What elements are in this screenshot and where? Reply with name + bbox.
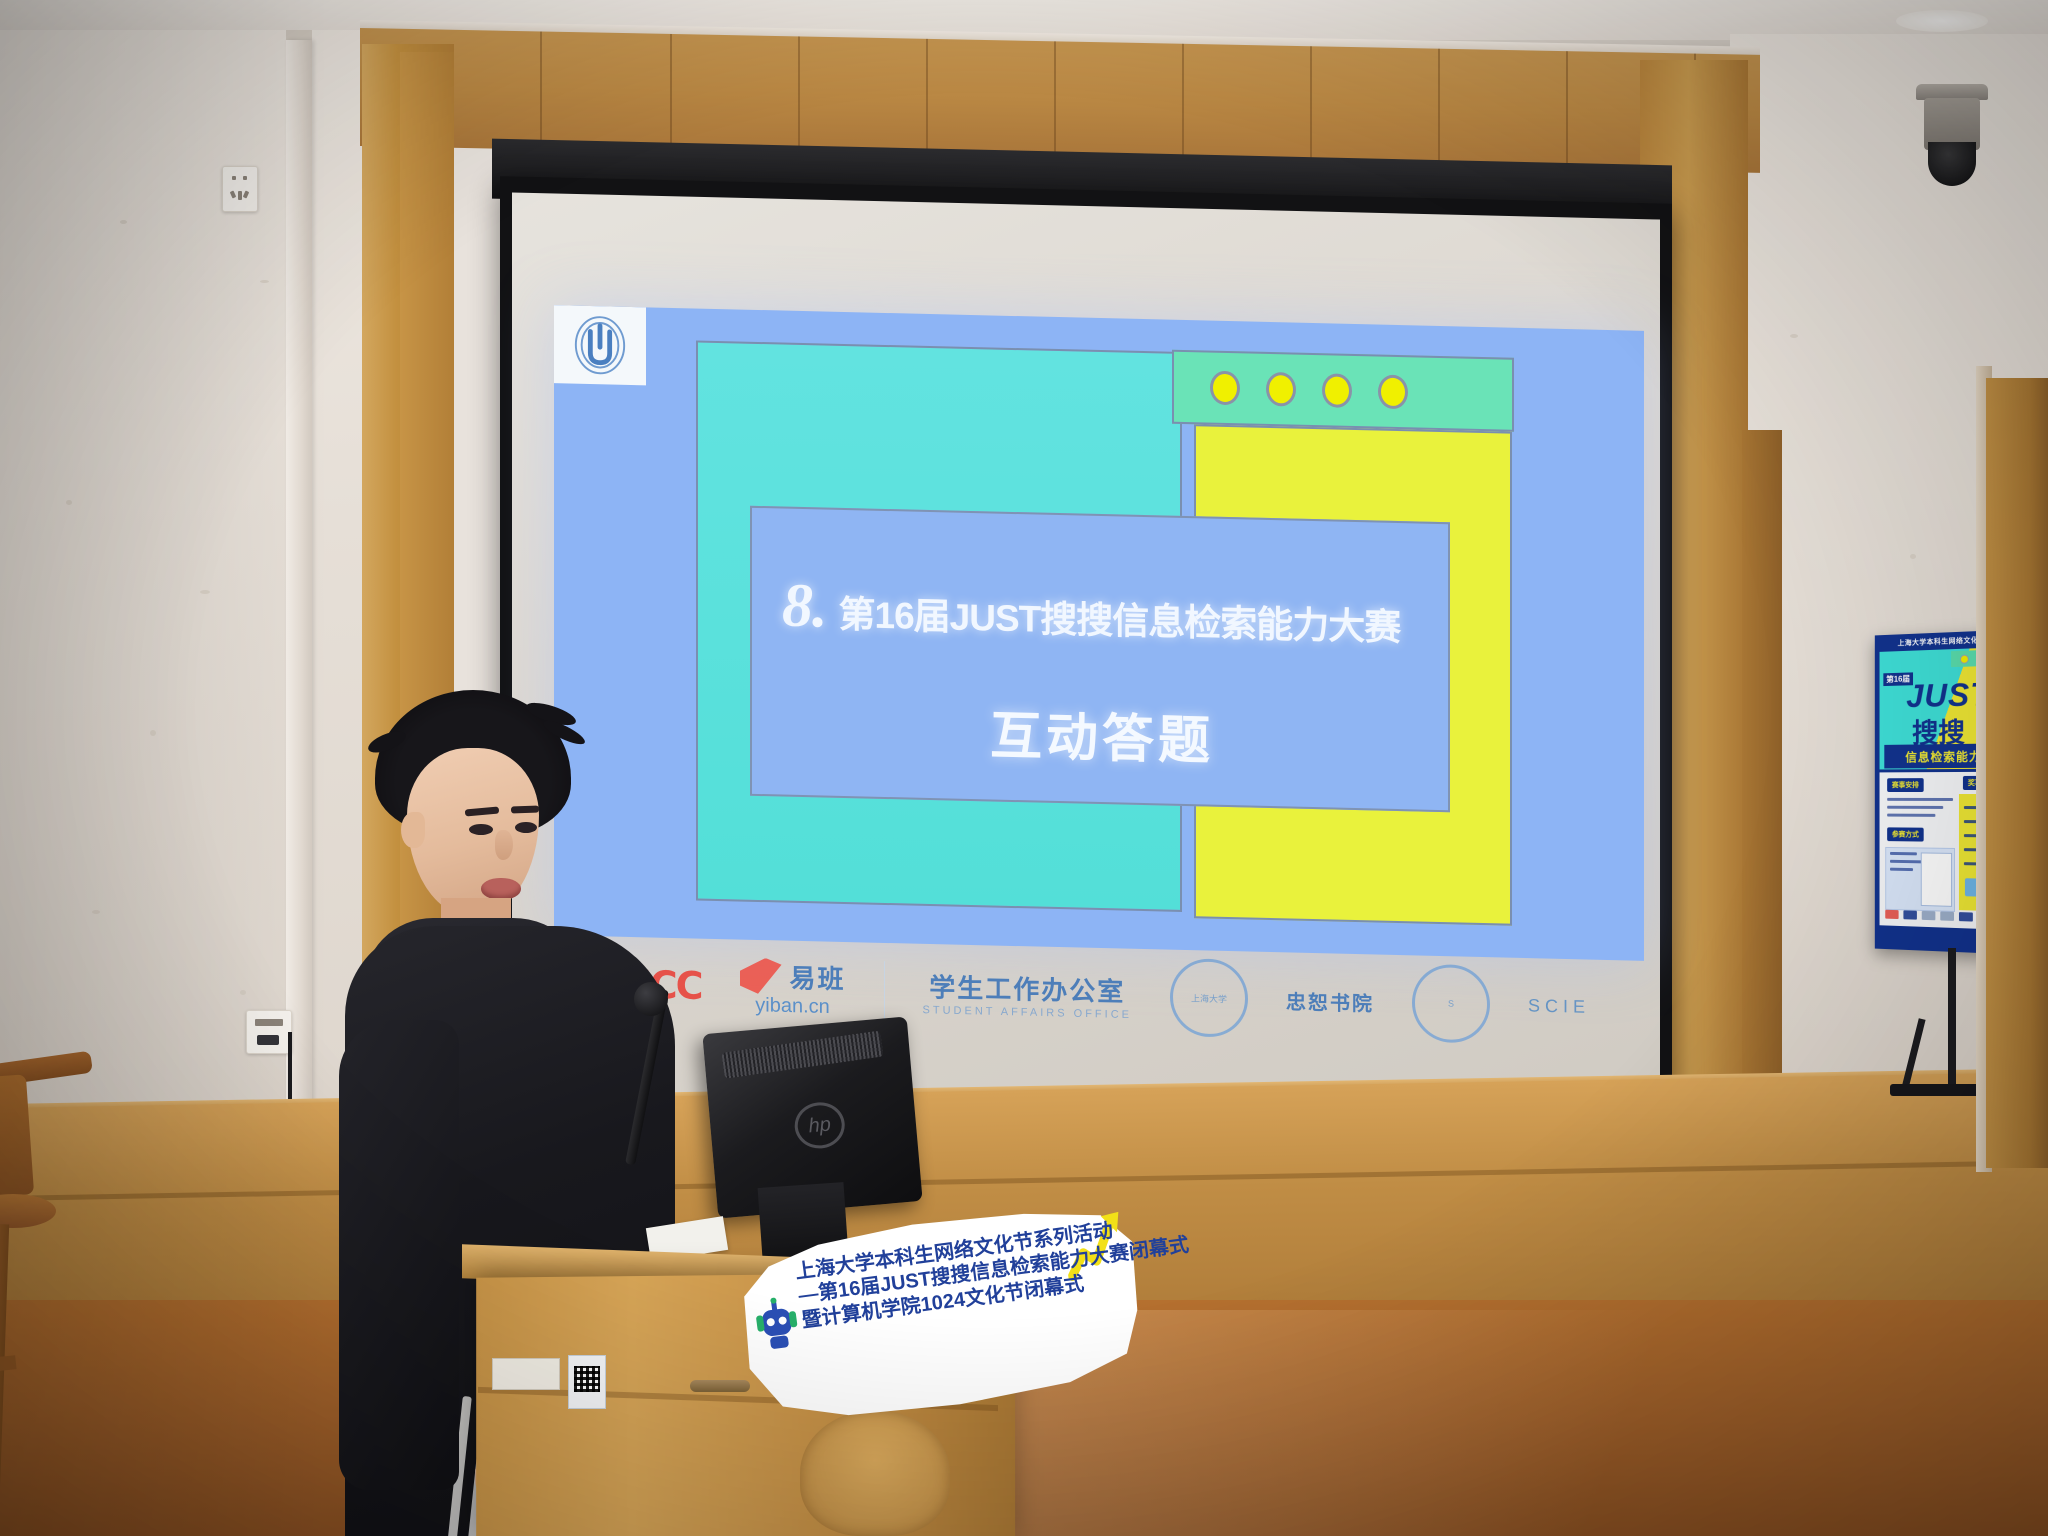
sponsor-student-affairs-office: 学生工作办公室 STUDENT AFFAIRS OFFICE xyxy=(923,967,1132,1021)
ear xyxy=(401,812,425,848)
sponsor-divider xyxy=(884,961,885,1019)
poster-section-schedule: 赛事安排 xyxy=(1887,778,1924,792)
wall-conduit xyxy=(286,40,312,1130)
wall-power-outlet-lower[interactable] xyxy=(246,1010,292,1054)
arm xyxy=(339,1020,459,1490)
sponsor-zhongshu-academy: 忠恕书院 xyxy=(1286,985,1374,1016)
window-dot-3 xyxy=(1322,373,1352,408)
ceiling-light xyxy=(1896,10,1988,32)
podium-handle[interactable] xyxy=(690,1380,750,1392)
wooden-chair[interactable] xyxy=(0,1058,134,1536)
window-dot-2 xyxy=(1266,372,1296,407)
university-seal-icon: 上海大学 xyxy=(1170,958,1248,1038)
wall-power-outlet[interactable] xyxy=(222,166,258,212)
sponsor-scie: SCIE xyxy=(1528,995,1590,1017)
right-wood-pillar-inner xyxy=(1742,430,1782,1150)
window-dot-1 xyxy=(1210,371,1240,406)
mouth xyxy=(481,878,521,900)
shanghai-university-logo xyxy=(554,305,646,385)
lecture-hall-scene: 8. 第16届JUST搜搜信息检索能力大赛 互动答题 PICC 易班 yiban… xyxy=(0,0,2048,1536)
ptz-dome-camera xyxy=(1914,84,1990,194)
eye-left xyxy=(469,824,493,835)
hp-logo-icon: hp xyxy=(793,1100,847,1150)
sponsor-s-emblem: S xyxy=(1412,964,1490,1044)
slide-item-number: 8. xyxy=(782,571,827,643)
window-dot-4 xyxy=(1378,375,1408,410)
poster-section-entry: 参赛方式 xyxy=(1887,827,1924,841)
projected-slide: 8. 第16届JUST搜搜信息检索能力大赛 互动答题 xyxy=(554,305,1644,961)
slide-text-panel: 8. 第16届JUST搜搜信息检索能力大赛 互动答题 xyxy=(750,506,1450,812)
wooden-door[interactable] xyxy=(1986,378,2048,1168)
monitor-vent xyxy=(721,1031,883,1079)
yiban-mark-icon xyxy=(740,957,782,994)
sponsor-university-seal: 上海大学 xyxy=(1170,958,1248,1038)
slide-subheading: 互动答题 xyxy=(752,688,1452,779)
poster-entry-card xyxy=(1885,847,1955,912)
slide-heading-row: 8. 第16届JUST搜搜信息检索能力大赛 xyxy=(782,571,1442,658)
podium-emblem xyxy=(800,1410,950,1536)
s-circle-emblem-icon: S xyxy=(1412,964,1490,1044)
slide-window-titlebar xyxy=(1172,350,1514,432)
podium-qr-sticker[interactable] xyxy=(568,1355,606,1409)
robot-mascot-icon xyxy=(751,1295,804,1357)
slide-heading: 第16届JUST搜搜信息检索能力大赛 xyxy=(839,584,1401,651)
sponsor-yiban: 易班 yiban.cn xyxy=(740,957,846,1019)
microphone-head xyxy=(634,982,668,1016)
eye-right xyxy=(515,822,537,833)
podium-asset-label xyxy=(492,1358,560,1390)
